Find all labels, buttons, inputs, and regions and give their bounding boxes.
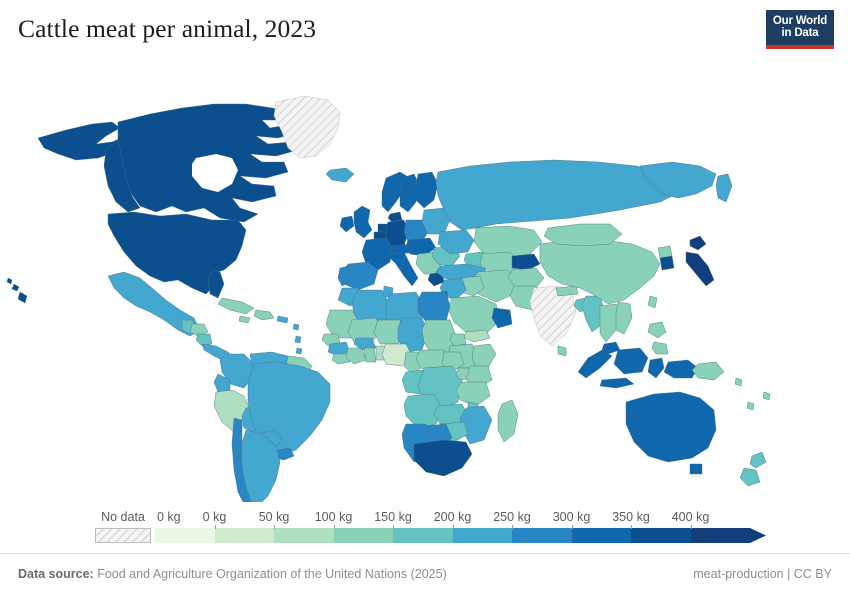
world-map[interactable] [0, 62, 850, 502]
legend-arrow-shape [750, 528, 766, 543]
region-indonesia-sulawesi[interactable] [648, 358, 664, 378]
owid-logo-line1: Our World [773, 16, 827, 28]
legend-tick-label-0: 0 kg [203, 510, 227, 524]
legend-tick-mark-5 [512, 525, 513, 529]
legend-tick-label-2: 100 kg [315, 510, 353, 524]
world-map-svg[interactable] [0, 62, 850, 502]
region-cuba[interactable] [218, 298, 254, 314]
data-source-note: Data source: Food and Agriculture Organi… [18, 567, 447, 581]
region-indonesia-sumatra[interactable] [578, 350, 612, 378]
region-lesser-antilles[interactable] [293, 324, 302, 354]
region-florida[interactable] [208, 270, 224, 298]
map-legend: No data 0 kg0 kg50 kg100 kg150 kg200 kg2… [0, 505, 850, 553]
region-taiwan[interactable] [648, 296, 657, 308]
region-somalia[interactable] [472, 344, 496, 368]
legend-start-label: 0 kg [157, 510, 181, 524]
legend-tick-mark-2 [334, 525, 335, 529]
footer-license[interactable]: meat-production | CC BY [693, 567, 832, 581]
region-mongolia[interactable] [544, 224, 622, 246]
region-ireland[interactable] [340, 216, 354, 232]
region-australia[interactable] [626, 392, 716, 462]
region-nepal[interactable] [556, 286, 578, 296]
legend-bin-5[interactable] [453, 528, 513, 543]
legend-tick-label-3: 150 kg [374, 510, 412, 524]
region-kyrgyzstan[interactable] [512, 254, 540, 270]
legend-bin-7[interactable] [572, 528, 632, 543]
region-iceland[interactable] [326, 168, 354, 182]
region-finland[interactable] [416, 172, 438, 208]
region-south-africa[interactable] [414, 440, 472, 476]
region-pacific-islands[interactable] [735, 378, 770, 410]
region-egypt[interactable] [418, 292, 450, 324]
legend-tick-label-5: 250 kg [493, 510, 531, 524]
region-papua-new-guinea[interactable] [692, 362, 724, 380]
legend-arrow-cap [750, 528, 766, 543]
region-hawaii[interactable] [7, 278, 27, 303]
legend-bin-4[interactable] [393, 528, 453, 543]
legend-gradient-bar[interactable] [155, 528, 750, 543]
legend-bin-2[interactable] [274, 528, 334, 543]
region-sri-lanka[interactable] [558, 346, 566, 356]
legend-tick-label-1: 50 kg [259, 510, 290, 524]
region-belgium[interactable] [374, 232, 386, 239]
region-kamchatka[interactable] [716, 174, 732, 202]
region-indonesia-java[interactable] [600, 378, 634, 388]
chart-footer: Data source: Food and Agriculture Organi… [0, 553, 850, 600]
region-madagascar[interactable] [498, 400, 518, 442]
region-tasmania[interactable] [690, 464, 702, 474]
region-hispaniola[interactable] [254, 310, 274, 320]
region-south-korea[interactable] [660, 256, 674, 270]
region-yemen[interactable] [464, 330, 490, 342]
region-russia[interactable] [436, 160, 676, 230]
legend-tick-label-8: 400 kg [672, 510, 710, 524]
owid-map-chart: Cattle meat per animal, 2023 Our World i… [0, 0, 850, 600]
region-united-kingdom[interactable] [354, 206, 372, 238]
legend-tick-mark-0 [215, 525, 216, 529]
region-new-zealand[interactable] [740, 452, 766, 486]
legend-bin-3[interactable] [334, 528, 394, 543]
legend-no-data-swatch[interactable] [95, 528, 151, 543]
region-indonesia-borneo[interactable] [614, 348, 648, 374]
legend-tick-mark-8 [691, 525, 692, 529]
data-source-prefix: Data source: [18, 567, 94, 581]
region-tanzania[interactable] [456, 382, 490, 406]
owid-logo-line2: in Data [782, 28, 819, 40]
legend-tick-mark-7 [631, 525, 632, 529]
legend-tick-mark-1 [274, 525, 275, 529]
region-vietnam[interactable] [616, 302, 632, 334]
legend-tick-label-6: 300 kg [553, 510, 591, 524]
page-title: Cattle meat per animal, 2023 [18, 14, 316, 44]
legend-tick-label-7: 350 kg [612, 510, 650, 524]
legend-tick-label-4: 200 kg [434, 510, 472, 524]
region-jamaica[interactable] [239, 316, 250, 323]
region-portugal[interactable] [338, 266, 350, 286]
legend-tick-mark-3 [393, 525, 394, 529]
legend-tick-mark-6 [572, 525, 573, 529]
region-philippines[interactable] [648, 322, 668, 354]
region-ghana[interactable] [364, 348, 376, 362]
legend-bin-9[interactable] [691, 528, 751, 543]
legend-bin-0[interactable] [155, 528, 215, 543]
region-saudi-arabia[interactable] [448, 296, 500, 334]
legend-bin-1[interactable] [215, 528, 275, 543]
region-japan[interactable] [686, 236, 714, 286]
legend-bin-6[interactable] [512, 528, 572, 543]
data-source-value: Food and Agriculture Organization of the… [97, 567, 447, 581]
region-italy[interactable] [390, 250, 418, 286]
legend-tick-mark-4 [453, 525, 454, 529]
owid-logo[interactable]: Our World in Data [766, 10, 834, 49]
legend-bin-8[interactable] [631, 528, 691, 543]
region-puerto-rico[interactable] [277, 316, 288, 323]
legend-no-data-label: No data [95, 510, 151, 524]
